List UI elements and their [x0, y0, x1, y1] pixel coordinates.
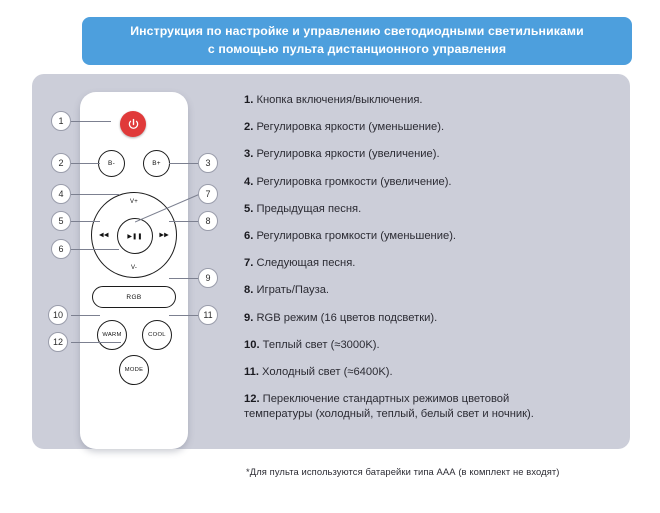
callout-marker-6: 6	[51, 239, 71, 259]
header-banner-line1: Инструкция по настройке и управлению све…	[130, 24, 584, 38]
instruction-text: RGB режим (16 цветов подсветки).	[253, 312, 437, 324]
instruction-number: 7.	[244, 257, 253, 269]
instruction-number: 1.	[244, 94, 253, 106]
instruction-item: 12. Переключение стандартных режимов цве…	[244, 392, 544, 422]
instruction-number: 9.	[244, 312, 253, 324]
callout-marker-3-label: 3	[205, 158, 210, 168]
instruction-number: 5.	[244, 203, 253, 215]
instruction-item: 5. Предыдущая песня.	[244, 202, 544, 217]
header-banner-text: Инструкция по настройке и управлению све…	[130, 23, 584, 59]
instruction-item: 6. Регулировка громкости (уменьшение).	[244, 229, 544, 244]
instruction-number: 6.	[244, 230, 253, 242]
brightness-up-button[interactable]: B+	[143, 150, 170, 177]
callout-marker-12: 12	[48, 332, 68, 352]
leader-line-12	[71, 342, 121, 343]
leader-line-5	[71, 221, 100, 222]
instruction-text: Регулировка громкости (увеличение).	[253, 176, 451, 188]
leader-line-9	[169, 278, 200, 279]
callout-marker-12-label: 12	[53, 337, 63, 347]
instruction-item: 7. Следующая песня.	[244, 256, 544, 271]
instruction-text: Следующая песня.	[253, 257, 355, 269]
callout-marker-4: 4	[51, 184, 71, 204]
instruction-item: 4. Регулировка громкости (увеличение).	[244, 175, 544, 190]
callout-marker-8-label: 8	[205, 216, 210, 226]
instruction-item: 2. Регулировка яркости (уменьшение).	[244, 120, 544, 135]
cool-light-button[interactable]: COOL	[142, 320, 172, 350]
rgb-button[interactable]: RGB	[92, 286, 176, 308]
instruction-text: Предыдущая песня.	[253, 203, 361, 215]
callout-marker-11-label: 11	[203, 310, 212, 320]
leader-line-4	[71, 194, 119, 195]
header-banner-line2: с помощью пульта дистанционного управлен…	[208, 42, 506, 56]
instruction-text: Теплый свет (≈3000K).	[260, 339, 380, 351]
remote-control-body: B- B+ V+ V- ◀◀ ▶▶ ▶❚❚ RGB WARM COOL MODE	[80, 92, 188, 449]
instruction-item: 8. Играть/Пауза.	[244, 283, 544, 298]
callout-marker-2-label: 2	[58, 158, 63, 168]
instruction-item: 9. RGB режим (16 цветов подсветки).	[244, 311, 544, 326]
instruction-item: 11. Холодный свет (≈6400K).	[244, 365, 544, 380]
warm-light-button[interactable]: WARM	[97, 320, 127, 350]
callout-marker-11: 11	[198, 305, 218, 325]
header-banner: Инструкция по настройке и управлению све…	[82, 17, 632, 65]
instruction-number: 11.	[244, 366, 259, 378]
volume-down-label: V-	[131, 265, 137, 271]
power-icon	[127, 118, 140, 131]
instruction-item: 10. Теплый свет (≈3000K).	[244, 338, 544, 353]
power-button[interactable]	[120, 111, 146, 137]
callout-marker-1: 1	[51, 111, 71, 131]
instruction-item: 3. Регулировка яркости (увеличение).	[244, 147, 544, 162]
callout-marker-4-label: 4	[58, 189, 63, 199]
callout-marker-9-label: 9	[205, 273, 210, 283]
instruction-list: 1. Кнопка включения/выключения. 2. Регул…	[244, 93, 544, 422]
mode-label: MODE	[125, 367, 144, 373]
instruction-number: 3.	[244, 148, 253, 160]
brightness-up-label: B+	[152, 160, 161, 167]
warm-light-label: WARM	[102, 332, 121, 338]
instruction-text: Переключение стандартных режимов цветово…	[244, 393, 534, 420]
instruction-text: Кнопка включения/выключения.	[253, 94, 422, 106]
cool-light-label: COOL	[148, 332, 166, 338]
mode-button[interactable]: MODE	[119, 355, 149, 385]
callout-marker-10-label: 10	[53, 310, 63, 320]
callout-marker-5-label: 5	[58, 216, 63, 226]
instruction-number: 2.	[244, 121, 253, 133]
callout-marker-2: 2	[51, 153, 71, 173]
instruction-text: Играть/Пауза.	[253, 284, 329, 296]
callout-marker-10: 10	[48, 305, 68, 325]
leader-line-3	[169, 163, 200, 164]
callout-marker-6-label: 6	[58, 244, 63, 254]
brightness-down-button[interactable]: B-	[98, 150, 125, 177]
callout-marker-1-label: 1	[58, 116, 63, 126]
leader-line-2	[71, 163, 100, 164]
instruction-text: Регулировка яркости (увеличение).	[253, 148, 439, 160]
leader-line-1	[71, 121, 111, 122]
leader-line-7	[135, 186, 205, 236]
callout-marker-3: 3	[198, 153, 218, 173]
instruction-text: Холодный свет (≈6400K).	[259, 366, 393, 378]
leader-line-10	[71, 315, 100, 316]
instruction-text: Регулировка громкости (уменьшение).	[253, 230, 456, 242]
brightness-down-label: B-	[108, 160, 115, 167]
instruction-number: 12.	[244, 393, 260, 405]
previous-track-icon[interactable]: ◀◀	[99, 232, 109, 239]
callout-marker-7: 7	[198, 184, 218, 204]
leader-line-11	[169, 315, 200, 316]
rgb-button-label: RGB	[126, 294, 141, 301]
footnote: *Для пульта используются батарейки типа …	[246, 466, 560, 477]
instruction-number: 10.	[244, 339, 260, 351]
instruction-number: 4.	[244, 176, 253, 188]
instruction-item: 1. Кнопка включения/выключения.	[244, 93, 544, 108]
instruction-text: Регулировка яркости (уменьшение).	[253, 121, 444, 133]
leader-line-6	[71, 249, 119, 250]
callout-marker-9: 9	[198, 268, 218, 288]
callout-marker-7-label: 7	[205, 189, 210, 199]
instruction-number: 8.	[244, 284, 253, 296]
callout-marker-5: 5	[51, 211, 71, 231]
callout-marker-8: 8	[198, 211, 218, 231]
